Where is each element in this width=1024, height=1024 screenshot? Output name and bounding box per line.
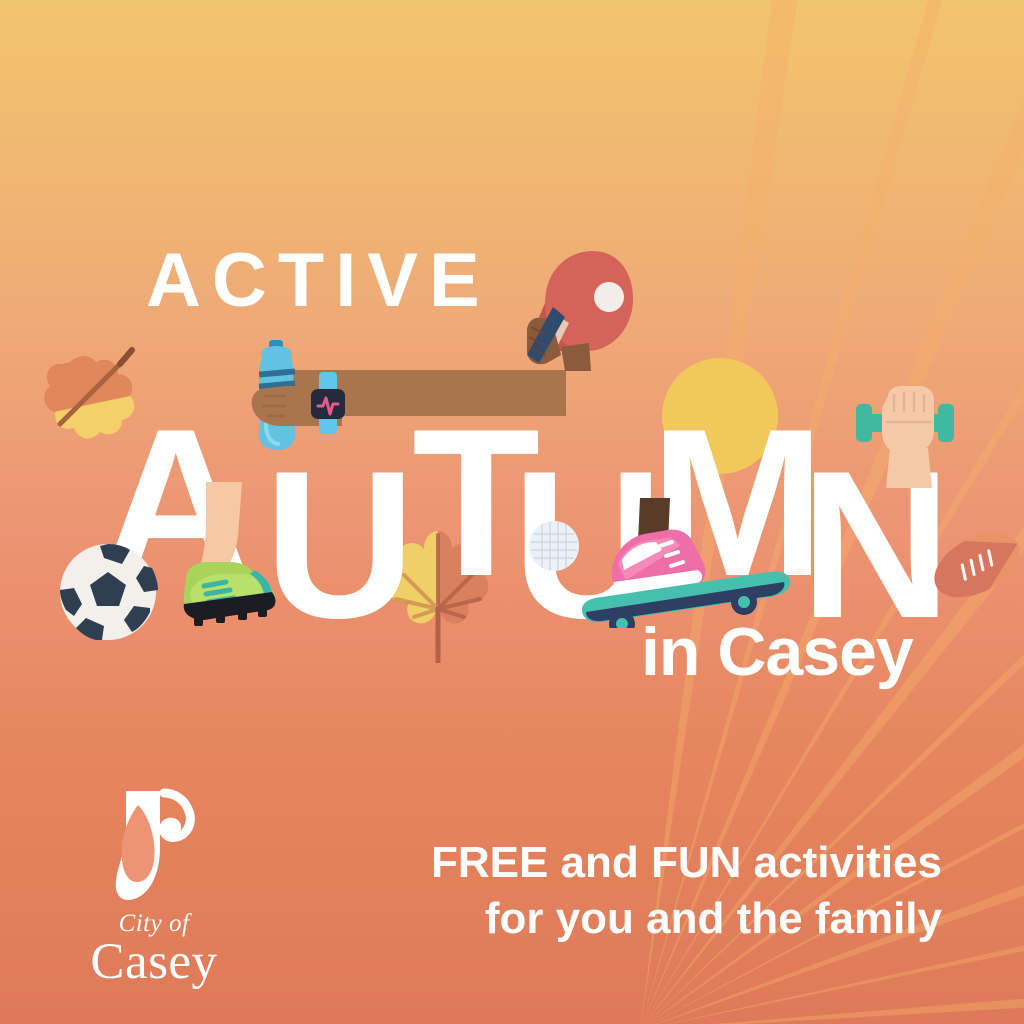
casey-leaf-mark-icon bbox=[108, 785, 200, 905]
headline-letter-a: A bbox=[100, 398, 252, 608]
tagline-line-1: FREE and FUN activities bbox=[342, 835, 942, 891]
tagline-line-2: for you and the family bbox=[342, 891, 942, 947]
poster-canvas: ACTIVE A U T U M N in Casey bbox=[0, 0, 1024, 1024]
headline-in-casey: in Casey bbox=[641, 618, 913, 686]
headline-letter-u1: U bbox=[264, 440, 416, 650]
logo-casey-text: Casey bbox=[64, 936, 244, 990]
logo-city-of-text: City of bbox=[64, 911, 244, 936]
headline-active: ACTIVE bbox=[146, 243, 491, 319]
city-of-casey-logo: City of Casey bbox=[64, 785, 244, 990]
tagline-block: FREE and FUN activities for you and the … bbox=[342, 835, 942, 948]
headline-letter-m: M bbox=[650, 398, 825, 608]
